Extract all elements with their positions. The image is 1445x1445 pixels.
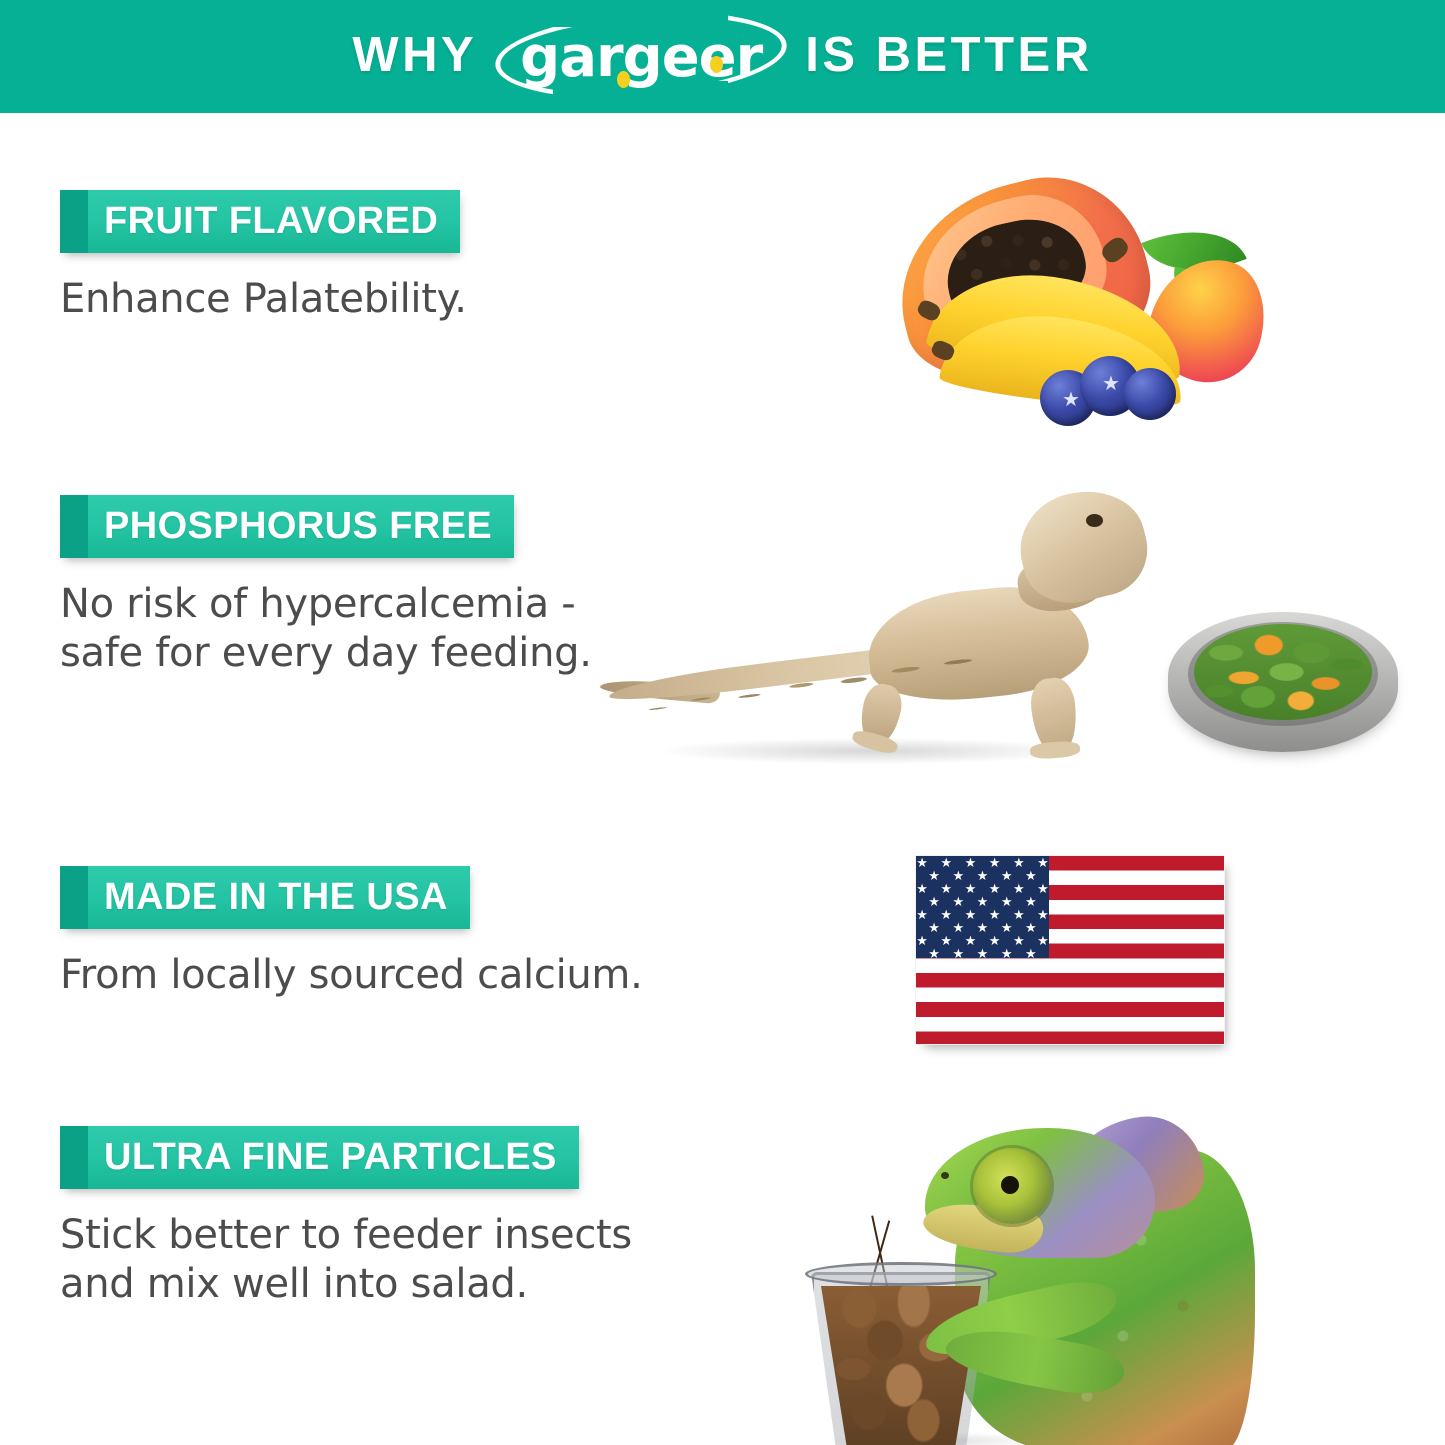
flag-star-icon: ★: [965, 908, 977, 921]
flag-star-icon: ★: [965, 856, 977, 869]
chameleon-with-cricket-cup-image: [795, 1110, 1245, 1445]
flag-star-icon: ★: [1037, 934, 1049, 947]
flag-star-icon: ★: [1013, 882, 1025, 895]
banner-left-tab: [60, 495, 88, 558]
banner-left-tab: [60, 866, 88, 929]
chameleon-pupil: [1001, 1176, 1019, 1194]
feature-description: Stick better to feeder insects and mix w…: [60, 1211, 632, 1309]
flag-star-icon: ★: [965, 934, 977, 947]
banner-body: FRUIT FLAVORED: [60, 190, 460, 253]
feature-description: From locally sourced calcium.: [60, 951, 643, 1000]
cricket-cup-rim: [805, 1262, 997, 1286]
header-word-is-better: IS BETTER: [805, 27, 1092, 83]
flag-star-icon: ★: [1013, 856, 1025, 869]
salad-bowl-image: [1168, 608, 1398, 768]
feature-description: No risk of hypercalcemia - safe for ever…: [60, 580, 592, 678]
salad-greens: [1194, 624, 1372, 720]
blueberry-crown-icon: ★: [1102, 374, 1120, 394]
feature-banner: PHOSPHORUS FREE: [60, 495, 514, 558]
infographic-page: WHY gargeer IS BETTER FRUIT FLAVORED Enh…: [0, 0, 1445, 1445]
chameleon-nostril: [941, 1172, 949, 1179]
flag-star-icon: ★: [928, 947, 940, 960]
flag-star-icon: ★: [989, 960, 1001, 973]
flag-star-icon: ★: [1025, 895, 1037, 908]
feature-ultra-fine-particles: ULTRA FINE PARTICLES Stick better to fee…: [60, 1126, 632, 1309]
flag-star-icon: ★: [952, 869, 964, 882]
flag-star-icon: ★: [940, 934, 952, 947]
logo-dot-two: [710, 56, 723, 73]
usa-flag-image: ★★★★★★★★★★★★★★★★★★★★★★★★★★★★★★★★★★★★★★★★…: [915, 855, 1225, 1050]
logo-swoosh-gap-top: [553, 5, 728, 27]
flag-star-icon: ★: [977, 921, 989, 934]
flag-star-icon: ★: [916, 908, 928, 921]
feature-fruit-flavored: FRUIT FLAVORED Enhance Palatebility.: [60, 190, 467, 324]
header-banner: WHY gargeer IS BETTER: [0, 0, 1445, 113]
flag-star-icon: ★: [928, 869, 940, 882]
flag-star-icon: ★: [1025, 947, 1037, 960]
header-inner: WHY gargeer IS BETTER: [352, 9, 1092, 101]
feature-banner: ULTRA FINE PARTICLES: [60, 1126, 579, 1189]
flag-star-icon: ★: [952, 895, 964, 908]
flag-star-icon: ★: [928, 895, 940, 908]
banner-body: PHOSPHORUS FREE: [60, 495, 514, 558]
feature-phosphorus-free: PHOSPHORUS FREE No risk of hypercalcemia…: [60, 495, 592, 678]
feature-description: Enhance Palatebility.: [60, 275, 467, 324]
flag-star-icon: ★: [1013, 908, 1025, 921]
feature-title: PHOSPHORUS FREE: [104, 505, 492, 548]
banner-body: MADE IN THE USA: [60, 866, 470, 929]
flag-star-icon: ★: [1001, 869, 1013, 882]
flag-star-icon: ★: [965, 960, 977, 973]
flag-star-icon: ★: [1001, 895, 1013, 908]
blueberry-shape: [1124, 368, 1176, 420]
flag-star-icon: ★: [952, 921, 964, 934]
flag-star-icon: ★: [989, 908, 1001, 921]
flag-star-icon: ★: [989, 856, 1001, 869]
crickets-in-cup: [821, 1286, 981, 1445]
flag-star-icon: ★: [1013, 934, 1025, 947]
feature-made-in-usa: MADE IN THE USA From locally sourced cal…: [60, 866, 643, 1000]
bearded-dragon-with-salad-bowl-image: [600, 470, 1160, 810]
flag-star-icon: ★: [916, 960, 928, 973]
flag-star-icon: ★: [928, 921, 940, 934]
flag-star-icon: ★: [1025, 869, 1037, 882]
dragon-eye: [1086, 514, 1103, 527]
flag-star-icon: ★: [916, 856, 928, 869]
flag-star-icon: ★: [952, 947, 964, 960]
brand-logo: gargeer: [491, 9, 791, 101]
banner-body: ULTRA FINE PARTICLES: [60, 1126, 579, 1189]
flag-star-icon: ★: [977, 869, 989, 882]
dragon-scale-pattern: [627, 623, 1072, 746]
flag-star-icon: ★: [940, 960, 952, 973]
feature-banner: MADE IN THE USA: [60, 866, 470, 929]
flag-star-icon: ★: [940, 856, 952, 869]
feature-banner: FRUIT FLAVORED: [60, 190, 460, 253]
logo-dot-one: [617, 71, 630, 88]
flag-star-icon: ★: [1037, 908, 1049, 921]
flag-star-icon: ★: [977, 895, 989, 908]
feature-title: ULTRA FINE PARTICLES: [104, 1136, 557, 1179]
flag-star-icon: ★: [1037, 856, 1049, 869]
flag-star-icon: ★: [916, 882, 928, 895]
flag-star-icon: ★: [1037, 882, 1049, 895]
flag-star-icon: ★: [977, 947, 989, 960]
feature-title: MADE IN THE USA: [104, 876, 448, 919]
flag-star-icon: ★: [965, 882, 977, 895]
flag-star-icon: ★: [1037, 960, 1049, 973]
header-word-why: WHY: [352, 27, 477, 83]
flag-star-icon: ★: [1013, 960, 1025, 973]
flag-star-icon: ★: [940, 882, 952, 895]
flag-star-icon: ★: [989, 882, 1001, 895]
flag-star-icon: ★: [1001, 921, 1013, 934]
flag-star-icon: ★: [989, 934, 1001, 947]
banner-left-tab: [60, 1126, 88, 1189]
brand-logo-text: gargeer: [520, 30, 762, 86]
flag-stripes: ★★★★★★★★★★★★★★★★★★★★★★★★★★★★★★★★★★★★★★★★…: [915, 855, 1225, 1045]
blueberry-crown-icon: ★: [1062, 390, 1080, 410]
flag-star-icon: ★: [940, 908, 952, 921]
flag-star-icon: ★: [1001, 947, 1013, 960]
flag-canton: ★★★★★★★★★★★★★★★★★★★★★★★★★★★★★★★★★★★★★★★★…: [916, 856, 1049, 958]
fruit-assortment-image: ★ ★: [880, 172, 1270, 452]
feature-title: FRUIT FLAVORED: [104, 200, 438, 243]
flag-star-icon: ★: [916, 934, 928, 947]
banner-left-tab: [60, 190, 88, 253]
flag-star-icon: ★: [1025, 921, 1037, 934]
